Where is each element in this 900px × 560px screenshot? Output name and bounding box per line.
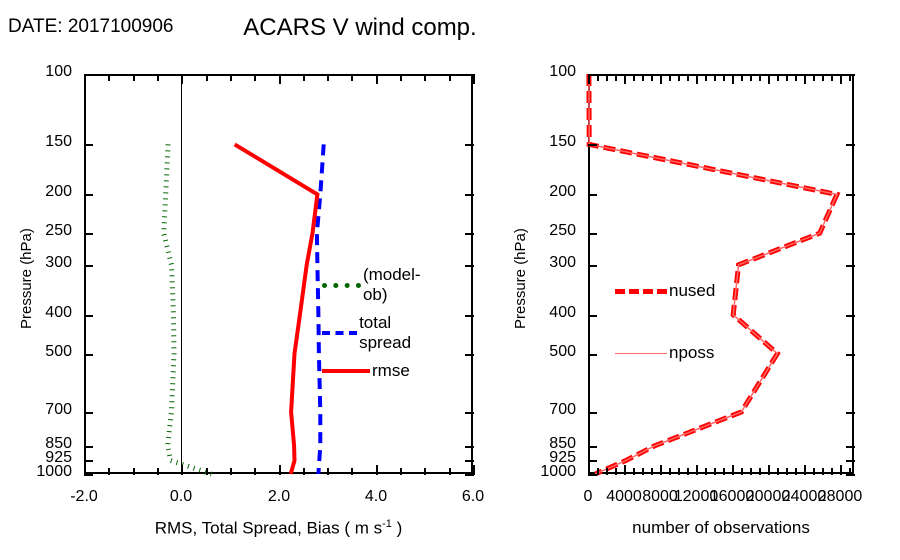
axis-tick [606, 74, 608, 81]
axis-tick [687, 468, 689, 475]
y-tick-label: 700 [549, 401, 576, 419]
axis-tick [768, 74, 770, 81]
axis-tick [597, 468, 599, 475]
axis-tick [642, 74, 644, 81]
axis-tick [846, 460, 855, 462]
axis-tick [768, 468, 770, 475]
axis-tick [588, 315, 597, 317]
x-tick-label: 8000 [642, 488, 678, 506]
axis-tick [660, 468, 662, 475]
axis-tick [588, 265, 597, 267]
axis-tick [723, 468, 725, 475]
axis-tick [606, 468, 608, 475]
series-line-nused [589, 74, 837, 474]
axis-tick [750, 468, 752, 475]
axis-tick [624, 468, 626, 475]
axis-tick [846, 354, 855, 356]
legend-item-nposs[interactable]: nposs [615, 343, 714, 363]
axis-tick [588, 412, 597, 414]
y-tick-label: 250 [549, 222, 576, 240]
axis-tick [840, 468, 842, 475]
axis-tick [741, 74, 743, 81]
y-tick-label: 150 [549, 133, 576, 151]
axis-tick [846, 265, 855, 267]
x-tick-label: 4000 [606, 488, 642, 506]
axis-tick [777, 74, 779, 81]
axis-tick [723, 74, 725, 81]
axis-tick [597, 74, 599, 81]
legend-label: nposs [669, 343, 714, 363]
axis-tick [633, 74, 635, 81]
axis-tick [615, 468, 617, 475]
y-tick-label: 400 [549, 304, 576, 322]
legend-label: nused [669, 281, 715, 301]
right-x-axis-title: number of observations [632, 518, 810, 538]
legend-swatch [615, 289, 667, 294]
axis-tick [804, 468, 806, 475]
right-y-axis-title: Pressure (hPa) [512, 228, 529, 329]
axis-tick [822, 468, 824, 475]
axis-tick [651, 74, 653, 81]
y-tick-label: 500 [549, 343, 576, 361]
axis-tick [840, 74, 842, 81]
axis-tick [696, 468, 698, 475]
axis-tick [660, 74, 662, 81]
axis-tick [777, 468, 779, 475]
chart-canvas: DATE: 2017100906 ACARS V wind comp. 1001… [0, 0, 900, 560]
axis-tick [759, 74, 761, 81]
y-tick-label: 1000 [540, 463, 576, 481]
axis-tick [741, 468, 743, 475]
axis-tick [705, 74, 707, 81]
axis-tick [813, 468, 815, 475]
axis-tick [795, 468, 797, 475]
axis-tick [588, 144, 597, 146]
axis-tick [846, 446, 855, 448]
axis-tick [831, 468, 833, 475]
axis-tick [714, 74, 716, 81]
legend-swatch [615, 353, 667, 354]
axis-tick [678, 468, 680, 475]
axis-tick [633, 468, 635, 475]
series-line-nposs [589, 74, 837, 474]
axis-tick [678, 74, 680, 81]
axis-tick [822, 74, 824, 81]
axis-tick [846, 194, 855, 196]
axis-tick [846, 412, 855, 414]
axis-tick [696, 74, 698, 81]
axis-tick [642, 468, 644, 475]
axis-tick [846, 233, 855, 235]
axis-tick [588, 468, 590, 475]
axis-tick [588, 460, 597, 462]
axis-tick [588, 74, 590, 81]
axis-tick [849, 74, 851, 81]
axis-tick [624, 74, 626, 81]
axis-tick [687, 74, 689, 81]
axis-tick [846, 144, 855, 146]
axis-tick [669, 74, 671, 81]
axis-tick [669, 468, 671, 475]
axis-tick [795, 74, 797, 81]
axis-tick [846, 315, 855, 317]
axis-tick [588, 354, 597, 356]
axis-tick [786, 468, 788, 475]
axis-tick [732, 468, 734, 475]
axis-tick [786, 74, 788, 81]
axis-tick [705, 468, 707, 475]
y-tick-label: 100 [549, 63, 576, 81]
axis-tick [588, 194, 597, 196]
axis-tick [651, 468, 653, 475]
axis-tick [588, 446, 597, 448]
right-series-layer [0, 0, 900, 560]
axis-tick [849, 468, 851, 475]
y-tick-label: 300 [549, 254, 576, 272]
axis-tick [804, 74, 806, 81]
axis-tick [615, 74, 617, 81]
legend-item-nused[interactable]: nused [615, 281, 715, 301]
x-tick-label: 28000 [818, 488, 863, 506]
axis-tick [831, 74, 833, 81]
x-tick-label: 0 [584, 488, 593, 506]
axis-tick [588, 233, 597, 235]
axis-tick [714, 468, 716, 475]
axis-tick [759, 468, 761, 475]
y-tick-label: 200 [549, 183, 576, 201]
axis-tick [732, 74, 734, 81]
axis-tick [750, 74, 752, 81]
axis-tick [813, 74, 815, 81]
